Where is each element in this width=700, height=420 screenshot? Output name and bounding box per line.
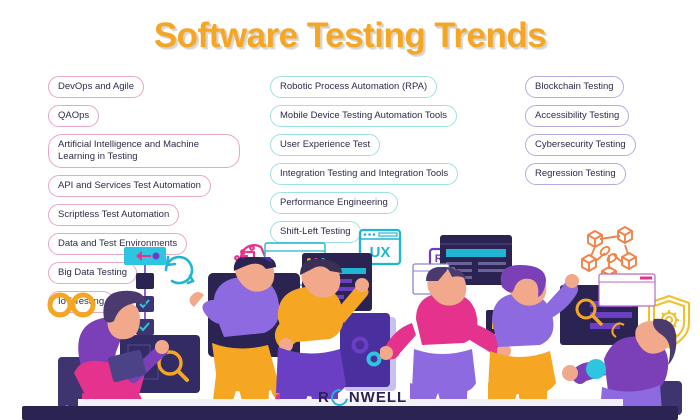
- logo-ring-icon: [328, 386, 352, 410]
- trend-pill[interactable]: Robotic Process Automation (RPA): [270, 76, 437, 98]
- trend-pill[interactable]: DevOps and Agile: [48, 76, 144, 98]
- logo-text-before: R: [318, 389, 330, 406]
- trend-pill[interactable]: Integration Testing and Integration Tool…: [270, 163, 458, 185]
- brand-logo: RNWELL: [318, 389, 407, 406]
- trend-pill[interactable]: Artificial Intelligence and Machine Lear…: [48, 134, 240, 168]
- trend-pill[interactable]: User Experience Test: [270, 134, 380, 156]
- trend-column-right: Blockchain Testing Accessibility Testing…: [525, 76, 685, 192]
- trend-pill[interactable]: Mobile Device Testing Automation Tools: [270, 105, 457, 127]
- small-window-outline: [598, 273, 656, 307]
- infographic-canvas: Software Testing Trends DevOps and Agile…: [0, 0, 700, 420]
- trend-pill[interactable]: Accessibility Testing: [525, 105, 629, 127]
- trend-pill[interactable]: API and Services Test Automation: [48, 175, 211, 197]
- trend-pill[interactable]: Blockchain Testing: [525, 76, 624, 98]
- logo-text-after: NWELL: [349, 389, 407, 406]
- trend-pill[interactable]: QAOps: [48, 105, 99, 127]
- trend-pill[interactable]: Performance Engineering: [270, 192, 398, 214]
- person-seated-analyst: [52, 275, 172, 415]
- page-title: Software Testing Trends: [0, 16, 700, 56]
- trend-pill[interactable]: Cybersecurity Testing: [525, 134, 636, 156]
- ground-bar: [22, 406, 678, 420]
- trend-pill[interactable]: Regression Testing: [525, 163, 626, 185]
- magnifier-icon: [574, 297, 604, 327]
